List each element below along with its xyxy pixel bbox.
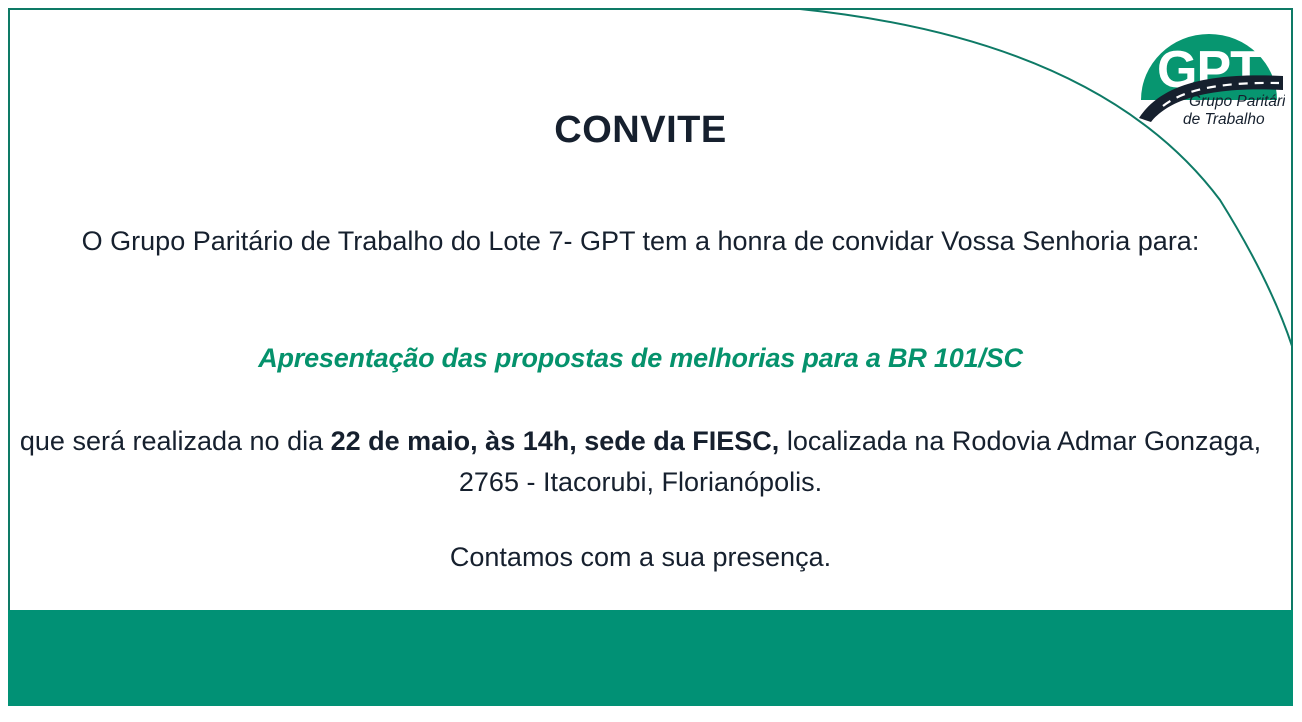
intro-paragraph: O Grupo Paritário de Trabalho do Lote 7-… (9, 221, 1272, 262)
bottom-green-band (8, 610, 1293, 706)
slide-content: CONVITE O Grupo Paritário de Trabalho do… (9, 9, 1292, 609)
closing-paragraph: Contamos com a sua presença. (9, 537, 1272, 578)
detail-prefix: que será realizada no dia (20, 426, 331, 456)
invitation-slide: GPT Grupo Paritário de Trabalho CONVITE … (0, 0, 1302, 722)
event-highlight-text: Apresentação das propostas de melhorias … (9, 343, 1272, 374)
event-details-paragraph: que será realizada no dia 22 de maio, às… (9, 421, 1272, 503)
page-title: CONVITE (9, 109, 1272, 152)
detail-bold: 22 de maio, às 14h, sede da FIESC, (331, 426, 780, 456)
